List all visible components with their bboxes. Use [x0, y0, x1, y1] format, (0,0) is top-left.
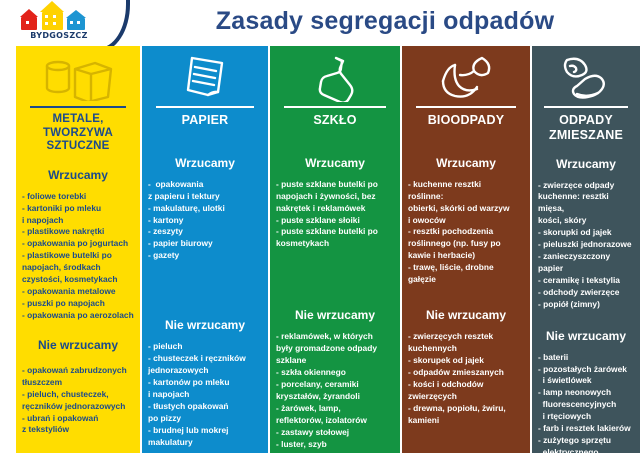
reject-list: - baterii - pozostałych żarówek i świetl…	[532, 352, 640, 453]
swoosh-decoration	[78, 0, 130, 52]
house-red-icon	[20, 9, 38, 30]
list-item: obierki, skórki od warzyw	[408, 203, 524, 215]
list-item: - plastikowe butelki po	[22, 250, 134, 262]
list-item: - kuchenne resztki	[408, 179, 524, 191]
list-item: kuchenne: resztki mięsa,	[538, 191, 634, 215]
list-item: kości, skóry	[538, 215, 634, 227]
list-item: jednorazowych	[148, 365, 262, 377]
list-item: po pizzy	[148, 413, 262, 425]
list-item: i napojach	[148, 389, 262, 401]
reject-list: - reklamówek, w których były gromadzone …	[270, 331, 400, 453]
accept-list: - opakowania z papieru i tektury - makul…	[142, 179, 268, 262]
list-item: - puste szklane słoiki	[276, 215, 394, 227]
reject-list: - pieluch - chusteczek i ręczników jedno…	[142, 341, 268, 448]
list-item: - zeszyty	[148, 226, 262, 238]
list-item: - foliowe torebki	[22, 191, 134, 203]
infographic-page: BYDGOSZCZ Zasady segregacji odpadów META…	[0, 0, 640, 453]
list-item: - pieluch, chusteczek,	[22, 389, 134, 401]
column-szklo: SZKŁO Wrzucamy - puste szklane butelki p…	[270, 46, 400, 453]
divider	[284, 106, 385, 108]
glass-bottle-icon	[270, 46, 400, 104]
list-item: i rtęciowych	[538, 411, 634, 423]
page-title: Zasady segregacji odpadów	[150, 7, 620, 36]
accept-list: - foliowe torebki - kartoniki po mleku i…	[16, 191, 140, 322]
list-item: - brudnej lub mokrej	[148, 425, 262, 437]
list-item: gałęzie	[408, 274, 524, 286]
reject-heading: Nie wrzucamy	[142, 318, 268, 332]
list-item: kryształów, żyrandoli	[276, 391, 394, 403]
list-item: kuchennych	[408, 343, 524, 355]
list-item: - drewna, popiołu, żwiru,	[408, 403, 524, 415]
divider	[30, 106, 127, 108]
list-item: - żarówek, lamp,	[276, 403, 394, 415]
reject-heading: Nie wrzucamy	[270, 308, 400, 322]
list-item: - zwierzęce odpady	[538, 180, 634, 192]
category-title: METALE, TWORZYWA SZTUCZNE	[16, 113, 140, 154]
list-item: - szkła okiennego	[276, 367, 394, 379]
list-item: ręczników jednorazowych	[22, 401, 134, 413]
category-columns: METALE, TWORZYWA SZTUCZNE Wrzucamy - fol…	[0, 46, 640, 453]
list-item: - tłustych opakowań	[148, 401, 262, 413]
accept-heading: Wrzucamy	[270, 156, 400, 170]
reject-heading: Nie wrzucamy	[402, 308, 530, 322]
list-item: - kości i odchodów	[408, 379, 524, 391]
list-item: - plastikowe nakrętki	[22, 226, 134, 238]
list-item: elektrycznego	[538, 447, 634, 453]
list-item: - trawę, liście, drobne	[408, 262, 524, 274]
list-item: i napojach	[22, 215, 134, 227]
accept-heading: Wrzucamy	[532, 157, 640, 171]
accept-heading: Wrzucamy	[16, 168, 140, 182]
column-papier: PAPIER Wrzucamy - opakowania z papieru i…	[142, 46, 268, 453]
list-item: - opakowania po aerozolach	[22, 310, 134, 322]
column-bioodpady: BIOODPADY Wrzucamy - kuchenne resztki ro…	[402, 46, 530, 453]
accept-list: - kuchenne resztki roślinne: obierki, sk…	[402, 179, 530, 286]
accept-list: - zwierzęce odpady kuchenne: resztki mię…	[532, 180, 640, 311]
list-item: szklane	[276, 355, 394, 367]
category-title: SZKŁO	[270, 113, 400, 128]
list-item: - lamp neonowych	[538, 387, 634, 399]
list-item: - odpadów zmieszanych	[408, 367, 524, 379]
list-item: - gazety	[148, 250, 262, 262]
banana-peel-leaf-icon	[402, 46, 530, 104]
list-item: - porcelany, ceramiki	[276, 379, 394, 391]
list-item: - kartony	[148, 215, 262, 227]
category-title: BIOODPADY	[402, 113, 530, 128]
divider	[156, 106, 254, 108]
list-item: - kartonów po mleku	[148, 377, 262, 389]
list-item: nakrętek i reklamówek	[276, 203, 394, 215]
reject-list: - opakowań zabrudzonych tłuszczem - piel…	[16, 365, 140, 437]
divider	[416, 106, 516, 108]
list-item: i owoców	[408, 215, 524, 227]
list-item: - pozostałych żarówek	[538, 364, 634, 376]
list-item: - baterii	[538, 352, 634, 364]
list-item: reflektorów, izolatorów	[276, 415, 394, 427]
list-item: - reklamówek, w których	[276, 331, 394, 343]
list-item: kosmetykach	[276, 238, 394, 250]
list-item: napojach, środkach	[22, 262, 134, 274]
list-item: - chusteczek i ręczników	[148, 353, 262, 365]
list-item: zwierzęcych	[408, 391, 524, 403]
list-item: z tekstyliów	[22, 424, 134, 436]
list-item: tłuszczem	[22, 377, 134, 389]
list-item: - pieluszki jednorazowe	[538, 239, 634, 251]
list-item: fluorescencyjnych	[538, 399, 634, 411]
list-item: - popiół (zimny)	[538, 299, 634, 311]
reject-heading: Nie wrzucamy	[532, 329, 640, 343]
header: BYDGOSZCZ Zasady segregacji odpadów	[0, 0, 640, 46]
list-item: były gromadzone odpady	[276, 343, 394, 355]
list-item: - skorupki od jajek	[538, 227, 634, 239]
list-item: - kartoniki po mleku	[22, 203, 134, 215]
column-odpady-zmieszane: ODPADY ZMIESZANE Wrzucamy - zwierzęce od…	[532, 46, 640, 453]
list-item: roślinne:	[408, 191, 524, 203]
list-item: - puste szklane butelki po	[276, 226, 394, 238]
divider	[544, 106, 628, 108]
list-item: - zastawy stołowej	[276, 427, 394, 439]
list-item: i świetlówek	[538, 375, 634, 387]
house-yellow-icon	[40, 1, 64, 30]
list-item: napojach i żywności, bez	[276, 191, 394, 203]
list-item: - puszki po napojach	[22, 298, 134, 310]
list-item: - puste szklane butelki po	[276, 179, 394, 191]
list-item: roślinnego (np. fusy po	[408, 238, 524, 250]
eggshell-shoe-icon	[532, 46, 640, 104]
list-item: - ceramikę i tekstylia	[538, 275, 634, 287]
list-item: - ubrań i opakowań	[22, 413, 134, 425]
list-item: - odchody zwierzęce	[538, 287, 634, 299]
list-item: - skorupek od jajek	[408, 355, 524, 367]
list-item: - zanieczyszczony papier	[538, 251, 634, 275]
can-and-carton-icon	[16, 46, 140, 104]
accept-list: - puste szklane butelki po napojach i ży…	[270, 179, 400, 251]
column-metale-tworzywa: METALE, TWORZYWA SZTUCZNE Wrzucamy - fol…	[16, 46, 140, 453]
reject-heading: Nie wrzucamy	[16, 338, 140, 352]
reject-list: - zwierzęcych resztek kuchennych - skoru…	[402, 331, 530, 426]
list-item: - zwierzęcych resztek	[408, 331, 524, 343]
list-item: makulatury	[148, 437, 262, 449]
paper-sheet-icon	[142, 46, 268, 104]
left-margin	[0, 46, 16, 453]
list-item: - resztki pochodzenia	[408, 226, 524, 238]
list-item: - opakowania metalowe	[22, 286, 134, 298]
category-title: ODPADY ZMIESZANE	[532, 113, 640, 143]
list-item: - farb i resztek lakierów	[538, 423, 634, 435]
list-item: - pieluch	[148, 341, 262, 353]
list-item: kamieni	[408, 415, 524, 427]
list-item: - luster, szyb	[276, 439, 394, 451]
list-item: kawie i herbacie)	[408, 250, 524, 262]
list-item: z papieru i tektury	[148, 191, 262, 203]
list-item: - opakowania	[148, 179, 262, 191]
list-item: - opakowania po jogurtach	[22, 238, 134, 250]
category-title: PAPIER	[142, 113, 268, 128]
accept-heading: Wrzucamy	[402, 156, 530, 170]
list-item: - papier biurowy	[148, 238, 262, 250]
list-item: - opakowań zabrudzonych	[22, 365, 134, 377]
list-item: czystości, kosmetykach	[22, 274, 134, 286]
accept-heading: Wrzucamy	[142, 156, 268, 170]
list-item: - zużytego sprzętu	[538, 435, 634, 447]
list-item: - makulaturę, ulotki	[148, 203, 262, 215]
